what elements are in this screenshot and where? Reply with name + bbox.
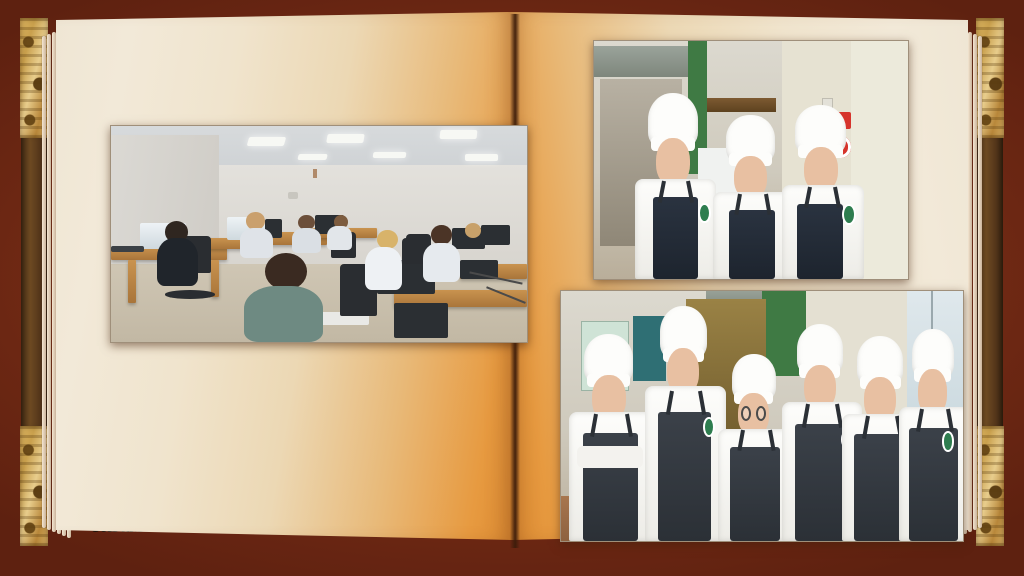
ceiling-lamp bbox=[373, 152, 407, 158]
crossed-arms bbox=[577, 446, 643, 469]
three-chef-students-photo bbox=[593, 40, 909, 280]
chef-apron bbox=[797, 204, 843, 279]
classroom-scene bbox=[111, 126, 527, 342]
chef-student bbox=[645, 306, 725, 541]
office-chair-base bbox=[165, 290, 215, 299]
student-head bbox=[265, 253, 307, 290]
eyeglasses bbox=[741, 406, 751, 421]
chef-student bbox=[569, 334, 653, 542]
ceiling-lamp bbox=[439, 130, 477, 139]
chef-apron bbox=[795, 424, 848, 541]
computer-monitor bbox=[481, 225, 510, 244]
ceiling-duct bbox=[593, 46, 701, 77]
computer-classroom-photo bbox=[110, 125, 528, 343]
presentation-slide: 17 июня 2021 года bbox=[0, 0, 1024, 576]
door-frame bbox=[707, 98, 776, 112]
computer-keyboard bbox=[111, 246, 144, 252]
student-body bbox=[365, 247, 402, 290]
student-head bbox=[431, 225, 452, 244]
chef-student bbox=[899, 329, 964, 542]
open-book-frame: 17 июня 2021 года bbox=[18, 12, 1006, 552]
student-body bbox=[157, 238, 199, 286]
classroom-desk-leg bbox=[128, 260, 136, 303]
student-body bbox=[327, 226, 352, 250]
chef-apron bbox=[658, 412, 711, 541]
student-body bbox=[244, 286, 323, 342]
student-body bbox=[240, 228, 273, 258]
chef-student bbox=[635, 93, 717, 279]
wall-sensor bbox=[288, 192, 298, 200]
classroom-desk-leg bbox=[211, 260, 219, 297]
ceiling-lamp bbox=[327, 134, 366, 143]
kitchen-scene-bottom bbox=[561, 291, 963, 541]
chef-student bbox=[713, 115, 792, 279]
ceiling-lamp bbox=[297, 154, 328, 160]
chef-apron bbox=[653, 197, 699, 279]
student-body bbox=[423, 243, 460, 282]
student-body bbox=[292, 228, 321, 254]
chef-apron bbox=[729, 210, 775, 279]
ceiling-lamp bbox=[247, 137, 287, 146]
ceiling-lamp bbox=[465, 154, 498, 160]
kitchen-scene-top bbox=[594, 41, 908, 279]
eyeglasses bbox=[756, 406, 766, 421]
computer-monitor bbox=[394, 303, 448, 338]
wall-fixture bbox=[313, 169, 317, 178]
uniform-badge bbox=[705, 419, 713, 435]
uniform-badge bbox=[944, 433, 953, 450]
six-chef-students-photo bbox=[560, 290, 964, 542]
chef-student bbox=[782, 105, 864, 279]
chef-apron bbox=[730, 447, 780, 541]
